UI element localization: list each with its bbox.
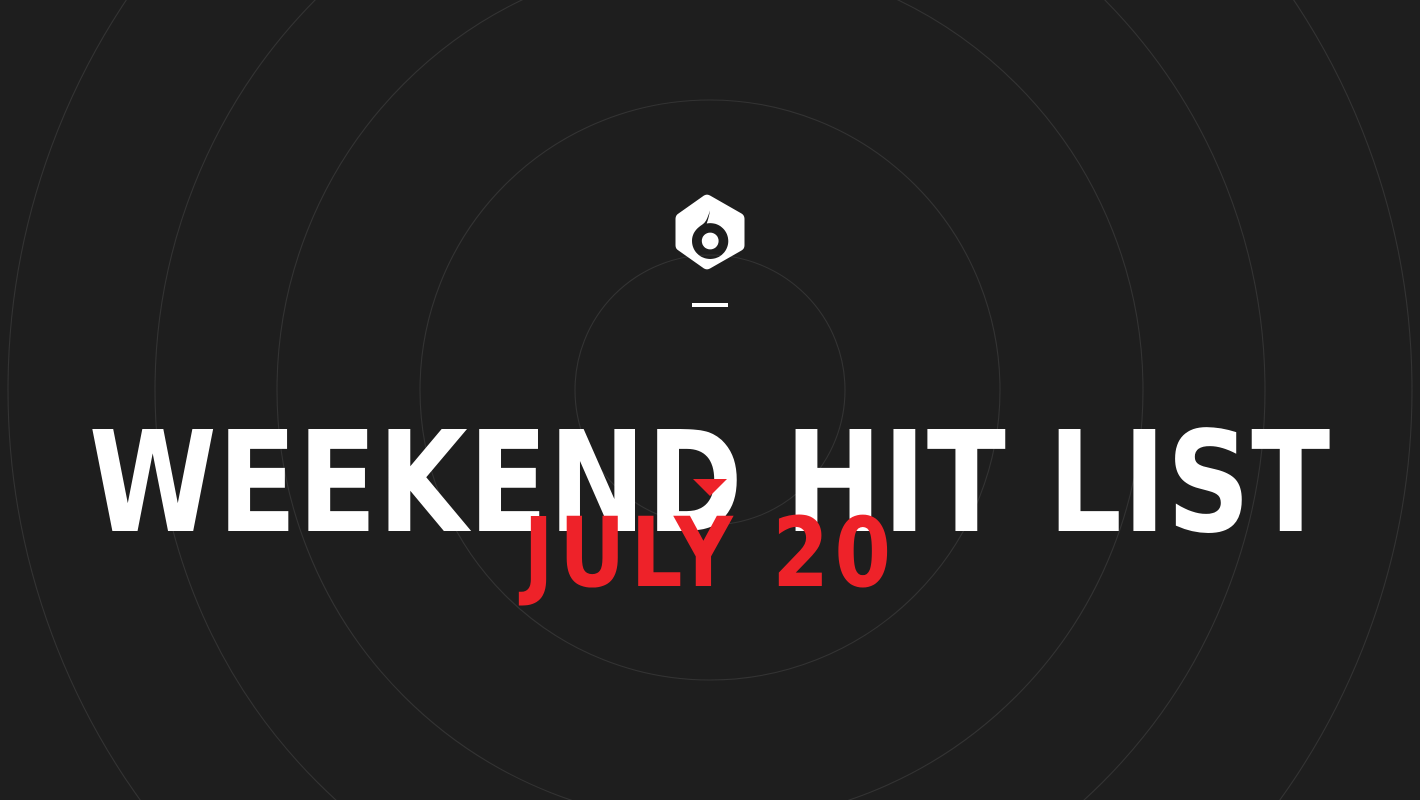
hexagon-flame-logo — [673, 194, 747, 270]
poster-canvas: WEEKEND HIT LIST JULY 20 — [0, 0, 1420, 800]
title-divider-rule — [692, 303, 728, 307]
date-label: JULY 20 — [43, 505, 1378, 601]
caret-down-icon — [693, 479, 727, 496]
poster-content: WEEKEND HIT LIST JULY 20 — [0, 0, 1420, 800]
